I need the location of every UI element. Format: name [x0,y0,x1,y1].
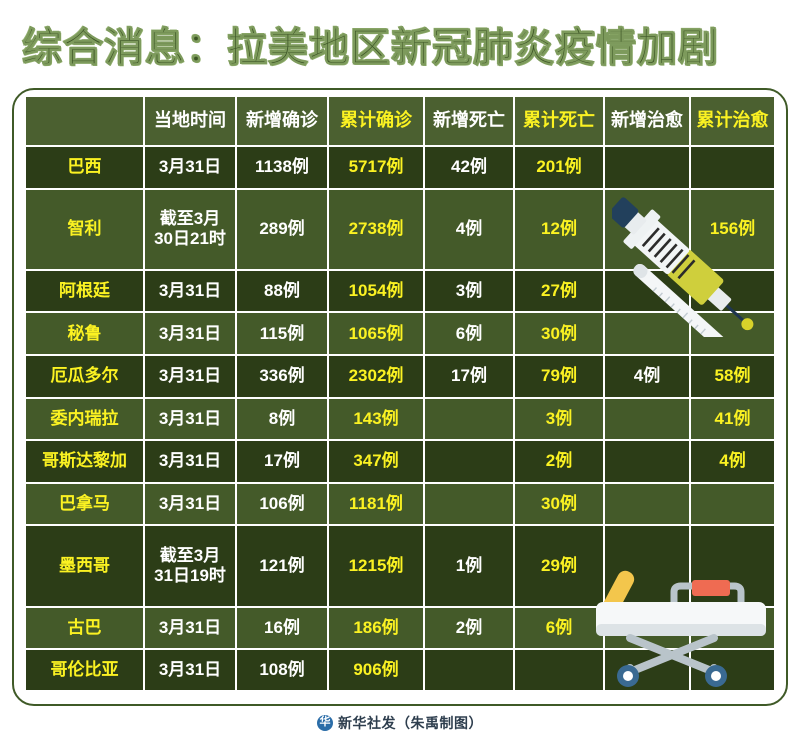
table-header-row: 当地时间 新增确诊 累计确诊 新增死亡 累计死亡 新增治愈 累计治愈 [26,97,774,146]
cell-total-deaths: 30例 [514,483,604,526]
cell-new-recovered [604,483,690,526]
cell-total-recovered [690,649,774,690]
credit-text: 新华社发（朱禹制图） [338,713,483,733]
page-title: 综合消息：拉美地区新冠肺炎疫情加剧 [22,15,719,73]
cell-local-time: 3月31日 [144,440,236,483]
title-bar: 综合消息：拉美地区新冠肺炎疫情加剧 [0,0,800,88]
cell-total-recovered: 41例 [690,398,774,441]
cell-local-time: 3月31日 [144,649,236,690]
table-row: 墨西哥截至3月31日19时121例1215例1例29例 [26,525,774,606]
cell-local-time: 3月31日 [144,398,236,441]
table-row: 哥斯达黎加3月31日17例347例2例4例 [26,440,774,483]
cell-new-confirmed: 16例 [236,607,328,650]
cell-new-recovered [604,440,690,483]
cell-total-confirmed: 347例 [328,440,424,483]
cell-total-recovered [690,607,774,650]
cell-total-confirmed: 2738例 [328,189,424,270]
cell-total-deaths: 2例 [514,440,604,483]
header-local-time: 当地时间 [144,97,236,146]
xinhua-logo-glyph: 华 [320,717,331,728]
cell-new-confirmed: 115例 [236,312,328,355]
cell-new-deaths: 17例 [424,355,514,398]
table-body: 巴西3月31日1138例5717例42例201例智利截至3月30日21时289例… [26,146,774,690]
cell-country: 厄瓜多尔 [26,355,144,398]
cell-new-confirmed: 88例 [236,270,328,313]
cell-country: 智利 [26,189,144,270]
cell-country: 古巴 [26,607,144,650]
cell-total-recovered: 156例 [690,189,774,270]
header-total-deaths: 累计死亡 [514,97,604,146]
cell-total-deaths: 79例 [514,355,604,398]
covid-stats-table: 当地时间 新增确诊 累计确诊 新增死亡 累计死亡 新增治愈 累计治愈 巴西3月3… [26,97,774,690]
cell-new-deaths [424,398,514,441]
cell-total-confirmed: 1181例 [328,483,424,526]
table-row: 古巴3月31日16例186例2例6例 [26,607,774,650]
cell-new-deaths: 42例 [424,146,514,189]
cell-total-confirmed: 5717例 [328,146,424,189]
header-cell-blank [26,97,144,146]
cell-total-recovered [690,146,774,189]
cell-total-deaths [514,649,604,690]
cell-local-time: 3月31日 [144,483,236,526]
cell-total-recovered: 58例 [690,355,774,398]
cell-country: 秘鲁 [26,312,144,355]
cell-total-deaths: 29例 [514,525,604,606]
cell-local-time: 3月31日 [144,270,236,313]
cell-local-time: 3月31日 [144,607,236,650]
cell-total-recovered [690,525,774,606]
cell-total-deaths: 12例 [514,189,604,270]
cell-new-recovered [604,649,690,690]
cell-new-confirmed: 8例 [236,398,328,441]
cell-new-deaths: 3例 [424,270,514,313]
cell-new-recovered [604,189,690,270]
cell-new-deaths [424,649,514,690]
cell-new-recovered [604,146,690,189]
cell-local-time: 3月31日 [144,355,236,398]
cell-total-deaths: 3例 [514,398,604,441]
cell-local-time: 截至3月31日19时 [144,525,236,606]
header-new-deaths: 新增死亡 [424,97,514,146]
cell-total-recovered: 4例 [690,440,774,483]
cell-country: 哥伦比亚 [26,649,144,690]
cell-new-deaths: 6例 [424,312,514,355]
cell-total-deaths: 201例 [514,146,604,189]
cell-total-confirmed: 143例 [328,398,424,441]
cell-new-recovered [604,270,690,313]
table-row: 秘鲁3月31日115例1065例6例30例 [26,312,774,355]
cell-total-deaths: 27例 [514,270,604,313]
header-new-confirmed: 新增确诊 [236,97,328,146]
cell-country: 阿根廷 [26,270,144,313]
cell-total-confirmed: 906例 [328,649,424,690]
table-row: 委内瑞拉3月31日8例143例3例41例 [26,398,774,441]
cell-country: 哥斯达黎加 [26,440,144,483]
cell-new-confirmed: 121例 [236,525,328,606]
table-row: 阿根廷3月31日88例1054例3例27例 [26,270,774,313]
cell-new-deaths: 4例 [424,189,514,270]
cell-country: 巴拿马 [26,483,144,526]
cell-total-recovered [690,483,774,526]
header-new-recovered: 新增治愈 [604,97,690,146]
cell-new-recovered [604,525,690,606]
cell-new-confirmed: 1138例 [236,146,328,189]
table-row: 哥伦比亚3月31日108例906例 [26,649,774,690]
cell-new-confirmed: 17例 [236,440,328,483]
table-row: 巴拿马3月31日106例1181例30例 [26,483,774,526]
table-row: 巴西3月31日1138例5717例42例201例 [26,146,774,189]
cell-new-deaths: 1例 [424,525,514,606]
cell-new-deaths [424,440,514,483]
header-total-recovered: 累计治愈 [690,97,774,146]
cell-local-time: 3月31日 [144,146,236,189]
cell-local-time: 3月31日 [144,312,236,355]
cell-country: 巴西 [26,146,144,189]
cell-new-confirmed: 108例 [236,649,328,690]
cell-country: 墨西哥 [26,525,144,606]
cell-total-confirmed: 1215例 [328,525,424,606]
xinhua-logo-icon: 华 [317,715,333,731]
cell-new-confirmed: 106例 [236,483,328,526]
table-row: 厄瓜多尔3月31日336例2302例17例79例4例58例 [26,355,774,398]
cell-country: 委内瑞拉 [26,398,144,441]
cell-total-deaths: 6例 [514,607,604,650]
header-total-confirmed: 累计确诊 [328,97,424,146]
cell-total-confirmed: 186例 [328,607,424,650]
cell-new-confirmed: 336例 [236,355,328,398]
cell-new-deaths: 2例 [424,607,514,650]
cell-new-confirmed: 289例 [236,189,328,270]
cell-new-deaths [424,483,514,526]
table-row: 智利截至3月30日21时289例2738例4例12例156例 [26,189,774,270]
cell-total-confirmed: 1054例 [328,270,424,313]
cell-new-recovered [604,398,690,441]
cell-total-confirmed: 2302例 [328,355,424,398]
cell-total-recovered [690,312,774,355]
footer-credit-bar: 华 新华社发（朱禹制图） [0,706,800,739]
cell-total-deaths: 30例 [514,312,604,355]
cell-new-recovered [604,312,690,355]
cell-new-recovered: 4例 [604,355,690,398]
cell-new-recovered [604,607,690,650]
cell-total-confirmed: 1065例 [328,312,424,355]
cell-total-recovered [690,270,774,313]
cell-local-time: 截至3月30日21时 [144,189,236,270]
